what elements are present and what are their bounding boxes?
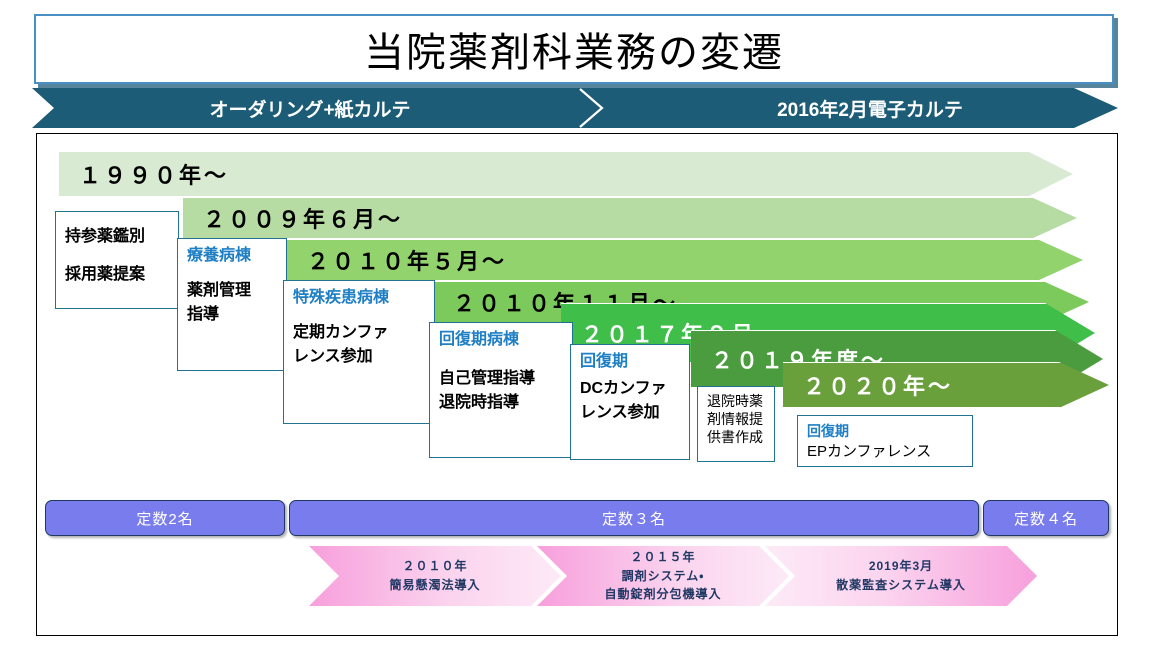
detail-line: 退院時薬 <box>707 392 767 410</box>
detail-box-2009: 療養病棟 薬剤管理 指導 <box>177 238 287 371</box>
system-year: ２０１０年 <box>402 557 467 576</box>
detail-box-2019: 退院時薬 剤情報提 供書作成 <box>697 386 775 462</box>
detail-line: 指導 <box>187 303 279 327</box>
detail-line: EPカンファレンス <box>807 441 965 464</box>
page-title: 当院薬剤科業務の変遷 <box>364 20 784 78</box>
system-detail: 簡易懸濁法導入 <box>389 576 480 595</box>
detail-box-2017: 回復期 DCカンファ レンス参加 <box>570 344 690 460</box>
system-arrow-2015: ２０１５年 調剤システム・ 自動錠剤分包機導入 <box>537 546 789 606</box>
system-arrow-2019: 2019年3月 散薬監査システム導入 <box>765 546 1037 606</box>
detail-line: 薬剤管理 <box>187 279 279 303</box>
detail-line: レンス参加 <box>293 345 427 369</box>
staff-bar-2: 定数2名 <box>45 500 285 536</box>
era-arrow-1990: １９９０年〜 <box>59 151 1073 197</box>
era-label-2009: ２００９年６月〜 <box>183 202 403 234</box>
staff-label: 定数４名 <box>1014 508 1078 529</box>
detail-box-2020: 回復期 EPカンファレンス <box>797 415 973 467</box>
ward-name: 特殊疾患病棟 <box>293 286 427 309</box>
era-arrow-2010-05: ２０１０年５月〜 <box>287 239 1083 281</box>
ward-name: 回復期病棟 <box>439 328 565 351</box>
ward-name: 療養病棟 <box>187 244 279 267</box>
header-segment-ordering: オーダリング+紙カルテ <box>60 88 560 128</box>
staff-label: 定数３名 <box>602 508 666 529</box>
detail-box-2010-05: 特殊疾患病棟 定期カンファ レンス参加 <box>283 280 435 424</box>
staff-bar-4: 定数４名 <box>983 500 1109 536</box>
detail-box-1990: 持参薬鑑別 採用薬提案 <box>55 211 179 309</box>
era-arrow-2009: ２００９年６月〜 <box>183 197 1077 239</box>
system-detail: 調剤システム・ <box>622 567 705 586</box>
detail-line: 定期カンファ <box>293 321 427 345</box>
detail-line: 剤情報提 <box>707 410 767 428</box>
slide-canvas: 当院薬剤科業務の変遷 オーダリング+紙カルテ 2016年2月電子カルテ １９９０… <box>0 0 1158 654</box>
header-segment-ekarte: 2016年2月電子カルテ <box>640 88 1100 128</box>
staff-bar-3: 定数３名 <box>289 500 979 536</box>
title-box: 当院薬剤科業務の変遷 <box>34 14 1114 84</box>
system-year: ２０１５年 <box>630 548 695 567</box>
detail-line: 自己管理指導 <box>439 367 565 391</box>
era-label-1990: １９９０年〜 <box>59 158 229 190</box>
staff-label: 定数2名 <box>136 508 193 529</box>
system-arrow-2010: ２０１０年 簡易懸濁法導入 <box>309 546 561 606</box>
detail-line: レンス参加 <box>580 401 682 425</box>
detail-box-2010-11: 回復期病棟 自己管理指導 退院時指導 <box>429 322 573 458</box>
system-detail: 散薬監査システム導入 <box>836 576 966 595</box>
detail-line: 供書作成 <box>707 428 767 446</box>
ward-name: 回復期 <box>580 350 682 373</box>
content-frame: １９９０年〜 ２００９年６月〜 ２０１０年５月〜 ２０１０年１１月〜 ２０１７年… <box>36 133 1118 636</box>
ward-name: 回復期 <box>807 421 965 441</box>
detail-line: 退院時指導 <box>439 391 565 415</box>
detail-line: 採用薬提案 <box>65 263 171 287</box>
era-label-2020: ２０２０年〜 <box>783 369 953 401</box>
detail-line: 持参薬鑑別 <box>65 225 171 249</box>
era-label-2010-05: ２０１０年５月〜 <box>287 244 507 276</box>
system-year: 2019年3月 <box>869 557 933 576</box>
system-detail: 自動錠剤分包機導入 <box>604 585 721 604</box>
era-arrow-2020: ２０２０年〜 <box>783 362 1109 408</box>
detail-line: DCカンファ <box>580 377 682 401</box>
